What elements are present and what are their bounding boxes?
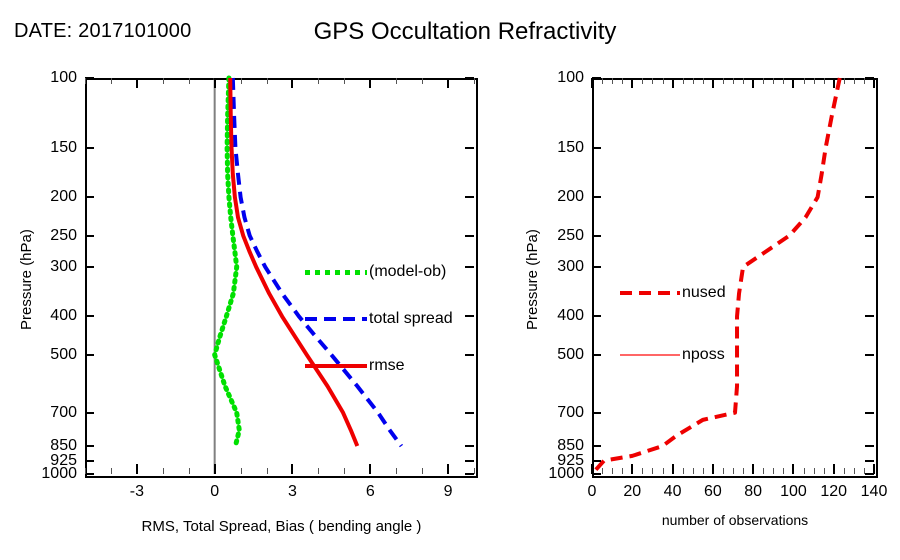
- y-tick-mark: [865, 266, 874, 268]
- x-minor-tick: [241, 78, 242, 84]
- right-x-axis-label: number of observations: [592, 512, 878, 528]
- x-minor-tick: [85, 78, 86, 84]
- x-minor-tick: [474, 468, 475, 474]
- legend-swatch-rmse: [305, 364, 367, 368]
- x-minor-tick: [854, 78, 855, 84]
- y-tick-mark: [592, 77, 601, 79]
- x-tick-mark: [591, 464, 593, 474]
- x-minor-tick: [864, 78, 865, 84]
- x-tick-mark: [873, 78, 875, 88]
- y-tick-mark: [465, 473, 474, 475]
- x-minor-tick: [189, 468, 190, 474]
- x-minor-tick: [693, 468, 694, 474]
- x-minor-tick: [622, 78, 623, 84]
- y-tick-mark: [592, 473, 601, 475]
- x-minor-tick: [612, 78, 613, 84]
- x-minor-tick: [723, 78, 724, 84]
- left-x-axis-label: RMS, Total Spread, Bias ( bending angle …: [85, 518, 478, 535]
- x-minor-tick: [783, 78, 784, 84]
- y-tick-mark: [85, 266, 94, 268]
- right-plot-frame: [592, 78, 878, 478]
- x-tick-label: 0: [210, 483, 219, 501]
- x-tick-mark: [214, 464, 216, 474]
- x-tick-label: 80: [744, 483, 762, 501]
- y-tick-mark: [465, 315, 474, 317]
- y-tick-mark: [592, 235, 601, 237]
- x-tick-label: 9: [444, 483, 453, 501]
- y-tick-mark: [85, 147, 94, 149]
- y-tick-mark: [465, 460, 474, 462]
- x-minor-tick: [763, 468, 764, 474]
- y-tick-mark: [865, 460, 874, 462]
- y-tick-label: 500: [23, 346, 77, 364]
- y-tick-mark: [592, 196, 601, 198]
- y-tick-mark: [85, 77, 94, 79]
- x-minor-tick: [703, 468, 704, 474]
- legend-label-total-spread: total spread: [369, 310, 453, 328]
- y-tick-label: 1000: [23, 465, 77, 483]
- x-minor-tick: [804, 78, 805, 84]
- x-minor-tick: [111, 468, 112, 474]
- x-minor-tick: [773, 78, 774, 84]
- x-tick-label: 3: [288, 483, 297, 501]
- y-tick-mark: [85, 412, 94, 414]
- legend-swatch-nposs: [620, 354, 680, 356]
- x-tick-label: 6: [366, 483, 375, 501]
- x-minor-tick: [824, 468, 825, 474]
- x-minor-tick: [642, 78, 643, 84]
- x-minor-tick: [111, 78, 112, 84]
- x-tick-mark: [712, 78, 714, 88]
- x-minor-tick: [844, 78, 845, 84]
- x-minor-tick: [683, 78, 684, 84]
- y-tick-mark: [592, 412, 601, 414]
- y-tick-mark: [85, 473, 94, 475]
- y-tick-label: 100: [530, 69, 584, 87]
- y-tick-label: 500: [530, 346, 584, 364]
- x-tick-mark: [712, 464, 714, 474]
- x-minor-tick: [344, 468, 345, 474]
- x-minor-tick: [602, 468, 603, 474]
- y-tick-mark: [465, 354, 474, 356]
- x-tick-mark: [369, 464, 371, 474]
- x-tick-mark: [291, 464, 293, 474]
- left-y-axis-label: Pressure (hPa): [18, 229, 35, 330]
- x-minor-tick: [241, 468, 242, 474]
- chart-page: DATE: 2017101000 GPS Occultation Refract…: [0, 0, 900, 560]
- x-minor-tick: [824, 78, 825, 84]
- x-tick-label: 100: [780, 483, 807, 501]
- x-tick-label: 60: [704, 483, 722, 501]
- y-tick-label: 700: [530, 404, 584, 422]
- x-minor-tick: [703, 78, 704, 84]
- y-tick-mark: [465, 235, 474, 237]
- y-tick-mark: [465, 147, 474, 149]
- x-minor-tick: [189, 78, 190, 84]
- x-minor-tick: [723, 468, 724, 474]
- y-tick-mark: [85, 354, 94, 356]
- x-tick-mark: [631, 78, 633, 88]
- x-minor-tick: [396, 468, 397, 474]
- x-minor-tick: [663, 468, 664, 474]
- x-minor-tick: [844, 468, 845, 474]
- y-tick-mark: [592, 460, 601, 462]
- x-minor-tick: [267, 468, 268, 474]
- x-tick-mark: [752, 464, 754, 474]
- y-tick-mark: [865, 354, 874, 356]
- y-tick-mark: [465, 412, 474, 414]
- x-tick-label: 40: [664, 483, 682, 501]
- y-tick-label: 1000: [530, 465, 584, 483]
- x-tick-label: 140: [861, 483, 888, 501]
- y-tick-label: 150: [23, 139, 77, 157]
- x-minor-tick: [652, 78, 653, 84]
- y-tick-label: 150: [530, 139, 584, 157]
- y-tick-mark: [85, 235, 94, 237]
- x-minor-tick: [318, 78, 319, 84]
- legend-label-nposs: nposs: [682, 346, 725, 364]
- y-tick-mark: [592, 354, 601, 356]
- x-minor-tick: [743, 468, 744, 474]
- observation-count-panel: [592, 78, 878, 478]
- x-minor-tick: [804, 468, 805, 474]
- x-minor-tick: [854, 468, 855, 474]
- y-tick-mark: [592, 147, 601, 149]
- x-tick-mark: [672, 78, 674, 88]
- x-minor-tick: [163, 78, 164, 84]
- y-tick-mark: [592, 266, 601, 268]
- x-tick-mark: [631, 464, 633, 474]
- x-minor-tick: [422, 78, 423, 84]
- y-tick-mark: [465, 266, 474, 268]
- x-tick-mark: [833, 464, 835, 474]
- x-minor-tick: [474, 78, 475, 84]
- y-tick-mark: [85, 196, 94, 198]
- x-tick-mark: [833, 78, 835, 88]
- x-minor-tick: [743, 78, 744, 84]
- x-tick-mark: [136, 78, 138, 88]
- y-tick-label: 100: [23, 69, 77, 87]
- x-minor-tick: [622, 468, 623, 474]
- x-minor-tick: [642, 468, 643, 474]
- x-minor-tick: [318, 468, 319, 474]
- right-y-axis-label: Pressure (hPa): [524, 229, 541, 330]
- y-tick-mark: [465, 445, 474, 447]
- x-minor-tick: [396, 78, 397, 84]
- x-tick-mark: [591, 78, 593, 88]
- x-tick-mark: [291, 78, 293, 88]
- x-minor-tick: [652, 468, 653, 474]
- y-tick-mark: [865, 196, 874, 198]
- y-tick-label: 200: [23, 188, 77, 206]
- x-minor-tick: [683, 468, 684, 474]
- legend-swatch-total-spread: [305, 317, 367, 321]
- y-tick-mark: [865, 412, 874, 414]
- y-tick-mark: [592, 315, 601, 317]
- x-tick-mark: [136, 464, 138, 474]
- x-minor-tick: [864, 468, 865, 474]
- x-minor-tick: [422, 468, 423, 474]
- x-minor-tick: [733, 468, 734, 474]
- x-minor-tick: [344, 78, 345, 84]
- y-tick-mark: [592, 445, 601, 447]
- x-minor-tick: [763, 78, 764, 84]
- y-tick-mark: [865, 235, 874, 237]
- x-minor-tick: [814, 468, 815, 474]
- legend-label-nused: nused: [682, 284, 726, 302]
- x-tick-label: -3: [130, 483, 144, 501]
- x-minor-tick: [773, 468, 774, 474]
- x-tick-mark: [752, 78, 754, 88]
- y-tick-mark: [865, 315, 874, 317]
- x-minor-tick: [693, 78, 694, 84]
- x-tick-mark: [792, 78, 794, 88]
- x-tick-mark: [792, 464, 794, 474]
- x-tick-mark: [447, 464, 449, 474]
- legend-label-rmse: rmse: [369, 357, 405, 375]
- x-tick-mark: [873, 464, 875, 474]
- y-tick-mark: [85, 445, 94, 447]
- x-minor-tick: [85, 468, 86, 474]
- y-tick-label: 700: [23, 404, 77, 422]
- x-tick-label: 20: [623, 483, 641, 501]
- x-tick-mark: [369, 78, 371, 88]
- y-tick-label: 200: [530, 188, 584, 206]
- y-tick-mark: [865, 445, 874, 447]
- x-minor-tick: [163, 468, 164, 474]
- page-title: GPS Occultation Refractivity: [0, 18, 900, 46]
- y-tick-mark: [85, 460, 94, 462]
- x-tick-mark: [214, 78, 216, 88]
- legend-swatch-nused: [620, 291, 680, 295]
- x-tick-mark: [447, 78, 449, 88]
- x-tick-label: 120: [820, 483, 847, 501]
- legend-swatch-model-ob: [305, 270, 367, 275]
- y-tick-mark: [465, 77, 474, 79]
- y-tick-mark: [865, 147, 874, 149]
- x-minor-tick: [733, 78, 734, 84]
- x-minor-tick: [612, 468, 613, 474]
- legend-label-model-ob: (model-ob): [369, 263, 446, 281]
- x-minor-tick: [602, 78, 603, 84]
- x-tick-mark: [672, 464, 674, 474]
- y-tick-mark: [85, 315, 94, 317]
- x-minor-tick: [663, 78, 664, 84]
- y-tick-mark: [465, 196, 474, 198]
- x-minor-tick: [267, 78, 268, 84]
- x-minor-tick: [783, 468, 784, 474]
- x-minor-tick: [814, 78, 815, 84]
- x-tick-label: 0: [588, 483, 597, 501]
